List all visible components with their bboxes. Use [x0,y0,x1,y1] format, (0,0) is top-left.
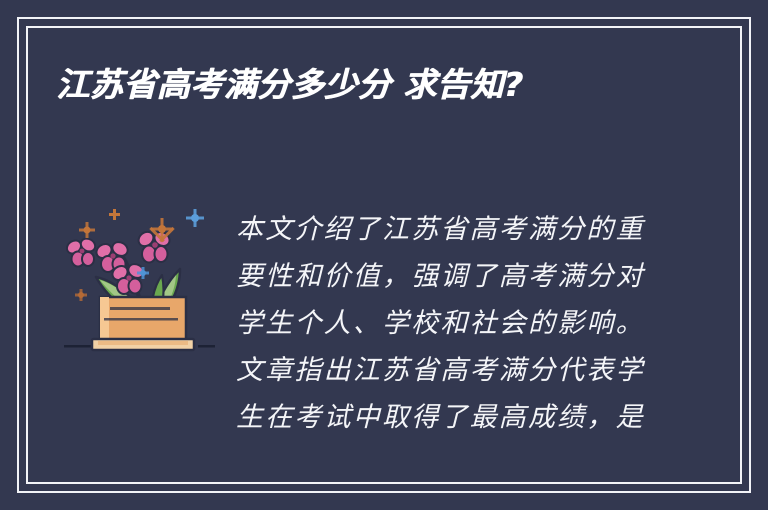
summary-line: 文章指出江苏省高考满分代表学 [236,347,650,394]
article-summary: 本文介绍了江苏省高考满分的重 要性和价值，强调了高考满分对 学生个人、学校和社会… [236,206,650,441]
potted-orchid-illustration [52,185,222,370]
ground-line-dash-icon [198,345,215,348]
flower-icon-1 [64,236,97,266]
sparkle-icon-orange-1 [109,209,120,220]
summary-line: 生在考试中取得了最高成绩，是 [236,394,650,441]
sparkle-icon-orange-4 [75,289,87,301]
sparkle-icon-blue-1 [186,209,204,227]
summary-line: 要性和价值，强调了高考满分对 [236,253,650,300]
summary-line: 本文介绍了江苏省高考满分的重 [236,206,650,253]
page-title: 江苏省高考满分多少分 求告知? [56,63,696,107]
sparkle-icon-orange-2 [79,222,95,238]
summary-line: 学生个人、学校和社会的影响。 [236,300,650,347]
flower-pot-icon [92,297,194,350]
poster-canvas: 江苏省高考满分多少分 求告知? [0,0,768,510]
